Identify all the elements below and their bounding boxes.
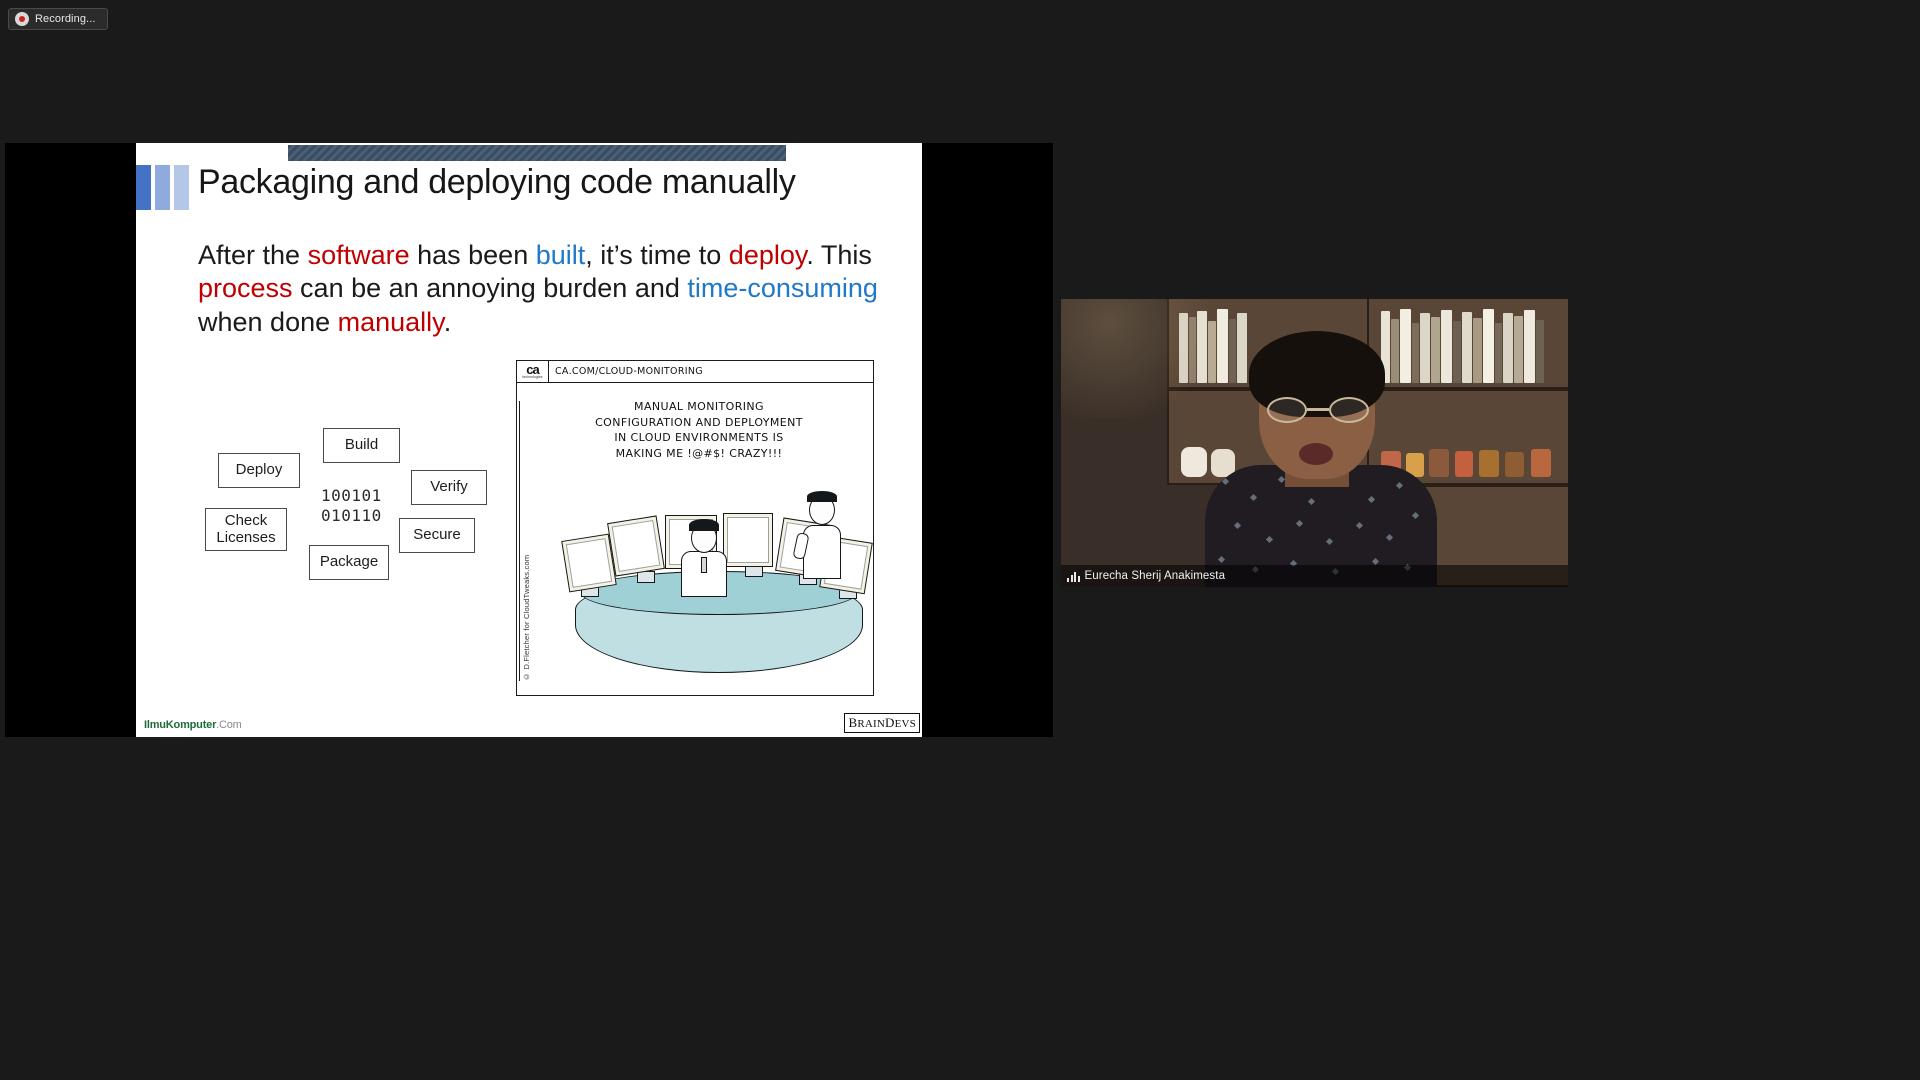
- glasses-icon: [1267, 397, 1369, 423]
- lighting-glow: [1061, 299, 1221, 419]
- participant-video-tile[interactable]: Eurecha Sherij Anakimesta: [1061, 299, 1568, 587]
- caption-line-1: MANUAL MONITORING: [565, 399, 833, 415]
- body-seg-6: . This: [806, 240, 872, 270]
- accent-bar-3: [174, 165, 189, 210]
- cartoon-header: ca technologies CA.COM/CLOUD-MONITORING: [517, 361, 873, 383]
- caption-line-2: CONFIGURATION AND DEPLOYMENT: [565, 415, 833, 431]
- body-seg-software: software: [308, 240, 410, 270]
- monitor-stand: [637, 571, 655, 583]
- process-box-verify: Verify: [411, 470, 487, 505]
- slide-header-stripe: [288, 145, 786, 161]
- body-seg-2: has been: [410, 240, 536, 270]
- braindevs-d: D: [885, 715, 895, 730]
- body-seg-12: .: [444, 307, 452, 337]
- ca-logo-sub: technologies: [522, 376, 542, 380]
- process-diagram: Build Deploy Verify Check Licenses Secur…: [211, 428, 501, 573]
- body-seg-10: when done: [198, 307, 338, 337]
- body-seg-built: built: [536, 240, 586, 270]
- slide-body-text: After the software has been built, it’s …: [198, 239, 888, 339]
- process-box-check-licenses: Check Licenses: [205, 508, 287, 551]
- recording-indicator[interactable]: Recording...: [8, 8, 108, 30]
- caption-line-4: MAKING ME !@#$! CRAZY!!!: [565, 446, 833, 462]
- cartoon-monitor: [561, 534, 617, 593]
- binary-line-2: 010110: [321, 506, 421, 526]
- body-seg-process: process: [198, 273, 293, 303]
- cartoon-observer-body: [803, 525, 841, 579]
- process-box-package: Package: [309, 545, 389, 580]
- accent-bar-1: [136, 165, 151, 210]
- recording-label: Recording...: [35, 13, 96, 25]
- cartoon-worker-tie: [701, 557, 707, 573]
- accent-bar-2: [155, 165, 170, 210]
- body-seg-manually: manually: [338, 307, 444, 337]
- cartoon-monitor: [607, 515, 665, 576]
- braindevs-evs: EVS: [895, 718, 916, 730]
- cartoon-worker-hair: [689, 519, 719, 531]
- binary-line-1: 100101: [321, 486, 421, 506]
- caption-line-3: IN CLOUD ENVIRONMENTS IS: [565, 430, 833, 446]
- body-seg-deploy: deploy: [729, 240, 807, 270]
- presentation-slide[interactable]: Packaging and deploying code manually Af…: [136, 143, 922, 737]
- cartoon-observer-hair: [807, 491, 837, 502]
- audio-level-icon: [1067, 571, 1080, 582]
- ca-technologies-logo-icon: ca technologies: [517, 361, 549, 382]
- body-seg-8: can be an annoying burden and: [293, 273, 688, 303]
- footer-braindevs-logo: BRAINDEVS: [844, 713, 920, 733]
- participant-name: Eurecha Sherij Anakimesta: [1085, 570, 1226, 582]
- footer-suffix: .Com: [216, 719, 241, 731]
- footer-brand: IlmuKomputer: [144, 719, 216, 731]
- body-seg-4: , it’s time to: [585, 240, 729, 270]
- record-icon: [15, 12, 29, 26]
- binary-code-text: 100101 010110: [321, 486, 421, 525]
- participant-name-bar: Eurecha Sherij Anakimesta: [1061, 565, 1568, 587]
- cartoon-monitor: [723, 513, 773, 567]
- braindevs-rain: RAIN: [857, 718, 885, 730]
- slide-accent-bars: [136, 165, 189, 210]
- cartoon-caption: MANUAL MONITORING CONFIGURATION AND DEPL…: [565, 399, 833, 461]
- body-seg-timeconsuming: time-consuming: [687, 273, 878, 303]
- participant-mouth: [1299, 443, 1333, 465]
- braindevs-b: B: [848, 715, 857, 730]
- cartoon-panel: ca technologies CA.COM/CLOUD-MONITORING …: [516, 360, 874, 696]
- participant-figure: [1211, 339, 1426, 587]
- footer-ilmukomputer: IlmuKomputer.Com: [144, 719, 242, 731]
- cartoon-illustration: [541, 481, 871, 693]
- shared-screen-stage[interactable]: Packaging and deploying code manually Af…: [5, 143, 1053, 737]
- process-box-deploy: Deploy: [218, 453, 300, 488]
- cartoon-credit-text: © D.Fletcher for CloudTweaks.com: [519, 401, 533, 681]
- cartoon-url-text: CA.COM/CLOUD-MONITORING: [549, 361, 873, 382]
- body-seg-0: After the: [198, 240, 308, 270]
- process-box-build: Build: [323, 428, 400, 463]
- slide-title: Packaging and deploying code manually: [198, 163, 908, 202]
